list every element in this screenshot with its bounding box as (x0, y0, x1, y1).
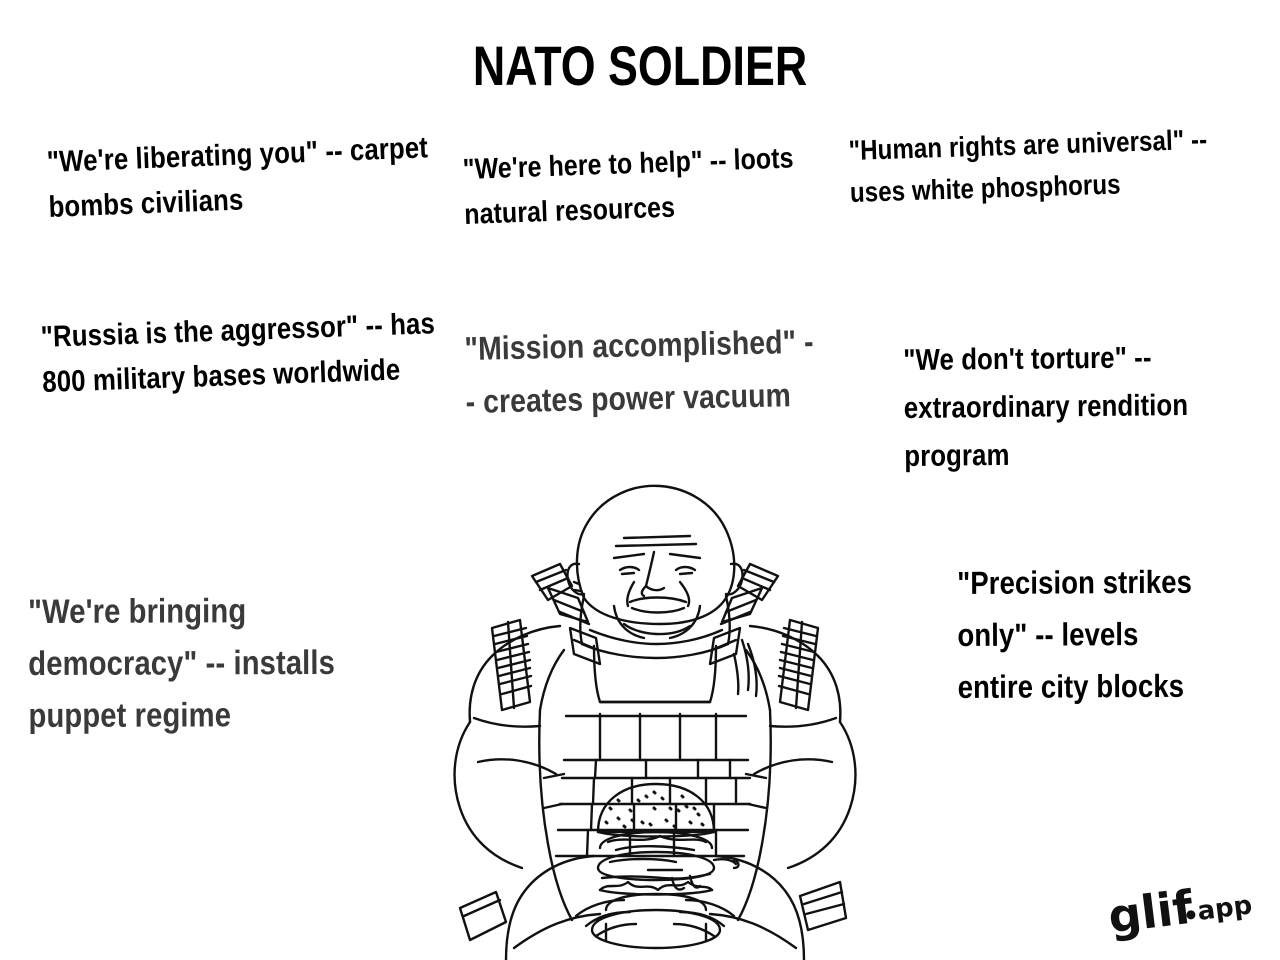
page-title: NATO SOLDIER (128, 38, 1152, 94)
caption-precision-strikes: "Precision strikes only" -- levels entir… (957, 556, 1231, 713)
caption-line: "Mission accomplished" - (464, 315, 814, 375)
soldier-illustration (448, 478, 862, 960)
caption-line: democracy" -- installs (28, 637, 335, 690)
caption-line: program (904, 430, 1189, 481)
caption-democracy: "We're bringing democracy" -- installs p… (28, 585, 385, 742)
meme-canvas: NATO SOLDIER "We're liberating you" -- c… (0, 0, 1280, 960)
caption-here-to-help: "We're here to help" -- loots natural re… (462, 135, 850, 238)
caption-line: - creates power vacuum (465, 368, 815, 428)
watermark-suffix: app (1196, 890, 1254, 926)
caption-line: "We're bringing (28, 585, 335, 638)
caption-line: "We don't torture" -- (903, 334, 1188, 385)
caption-line: puppet regime (28, 689, 335, 742)
caption-line: only" -- levels (957, 608, 1192, 661)
caption-aggressor: "Russia is the aggressor" -- has 800 mil… (40, 299, 501, 405)
caption-liberating: "We're liberating you" -- carpet bombs c… (46, 123, 492, 230)
caption-line: entire city blocks (958, 660, 1193, 713)
glif-watermark: glif app (1106, 874, 1256, 942)
caption-torture: "We don't torture" -- extraordinary rend… (903, 334, 1235, 481)
caption-line: "Precision strikes (957, 556, 1192, 609)
caption-mission-accomplished: "Mission accomplished" - - creates power… (464, 313, 872, 427)
caption-human-rights: "Human rights are universal" -- uses whi… (848, 117, 1268, 214)
caption-line: extraordinary rendition (904, 382, 1189, 433)
watermark-main: glif (1106, 880, 1197, 942)
